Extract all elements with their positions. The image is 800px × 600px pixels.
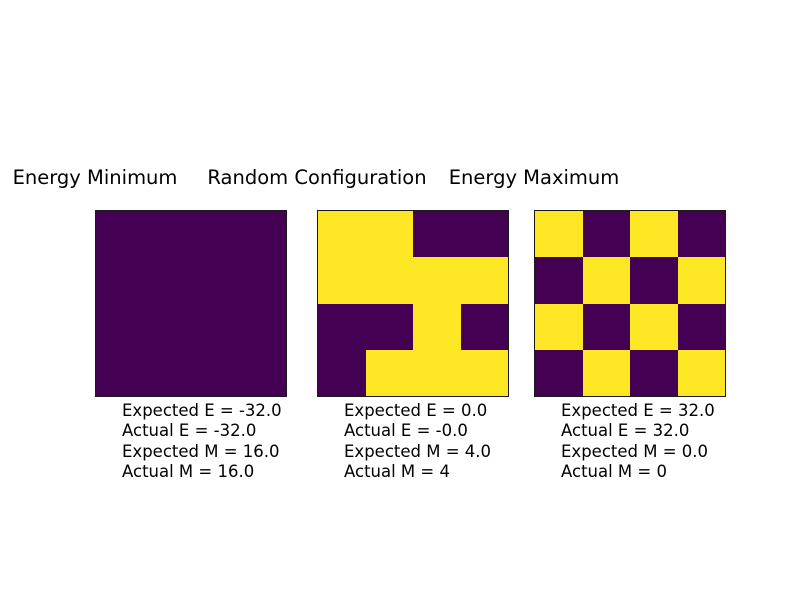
spin-cell: [366, 257, 414, 303]
spin-cell: [535, 257, 583, 303]
caption-line-actual-energy: Actual E = 32.0: [561, 421, 715, 441]
spin-cell: [461, 304, 509, 350]
caption-line-expected-energy: Expected E = 0.0: [344, 401, 491, 421]
spin-cell: [678, 350, 726, 396]
spin-cell: [461, 257, 509, 303]
spin-cell: [461, 350, 509, 396]
panel-title: Random Configuration: [207, 168, 426, 188]
caption-line-expected-magnetization: Expected M = 0.0: [561, 442, 715, 462]
spin-grid: [317, 210, 509, 397]
panel-title: Energy Maximum: [449, 168, 620, 188]
caption-line-expected-energy: Expected E = 32.0: [561, 401, 715, 421]
spin-cell: [144, 257, 192, 303]
caption-line-actual-energy: Actual E = -32.0: [122, 421, 282, 441]
panel-caption: Expected E = -32.0 Actual E = -32.0 Expe…: [122, 401, 282, 482]
spin-cell: [535, 350, 583, 396]
panel-title: Energy Minimum: [13, 168, 178, 188]
spin-cell: [630, 211, 678, 257]
caption-line-actual-energy: Actual E = -0.0: [344, 421, 491, 441]
spin-cell: [583, 304, 631, 350]
spin-cell: [678, 304, 726, 350]
spin-cell: [191, 211, 239, 257]
spin-cell: [583, 350, 631, 396]
spin-cell: [413, 304, 461, 350]
panel-caption: Expected E = 0.0 Actual E = -0.0 Expecte…: [344, 401, 491, 482]
caption-line-expected-energy: Expected E = -32.0: [122, 401, 282, 421]
spin-cell: [678, 211, 726, 257]
spin-cell: [535, 211, 583, 257]
spin-cell: [144, 211, 192, 257]
figure-canvas: Energy Minimum Expected E = -32.0 Actual…: [0, 0, 800, 600]
spin-grid: [534, 210, 726, 397]
spin-cell: [366, 304, 414, 350]
spin-cell: [239, 350, 287, 396]
spin-cell: [239, 211, 287, 257]
spin-cell: [535, 304, 583, 350]
panel-caption: Expected E = 32.0 Actual E = 32.0 Expect…: [561, 401, 715, 482]
spin-cell: [630, 350, 678, 396]
caption-line-expected-magnetization: Expected M = 16.0: [122, 442, 282, 462]
spin-cell: [191, 257, 239, 303]
spin-cell: [630, 304, 678, 350]
spin-cell: [318, 257, 366, 303]
spin-cell: [144, 304, 192, 350]
spin-grid: [95, 210, 287, 397]
spin-cell: [413, 257, 461, 303]
caption-line-expected-magnetization: Expected M = 4.0: [344, 442, 491, 462]
spin-cell: [96, 211, 144, 257]
spin-cell: [96, 257, 144, 303]
spin-cell: [144, 350, 192, 396]
spin-cell: [366, 211, 414, 257]
spin-cell: [239, 257, 287, 303]
spin-cell: [318, 211, 366, 257]
spin-cell: [678, 257, 726, 303]
spin-cell: [191, 304, 239, 350]
spin-cell: [583, 257, 631, 303]
spin-cell: [318, 350, 366, 396]
spin-cell: [191, 350, 239, 396]
spin-cell: [366, 350, 414, 396]
spin-cell: [461, 211, 509, 257]
caption-line-actual-magnetization: Actual M = 4: [344, 462, 491, 482]
spin-cell: [630, 257, 678, 303]
spin-cell: [413, 350, 461, 396]
spin-cell: [96, 304, 144, 350]
spin-cell: [239, 304, 287, 350]
caption-line-actual-magnetization: Actual M = 0: [561, 462, 715, 482]
spin-cell: [583, 211, 631, 257]
caption-line-actual-magnetization: Actual M = 16.0: [122, 462, 282, 482]
spin-cell: [318, 304, 366, 350]
spin-cell: [413, 211, 461, 257]
spin-cell: [96, 350, 144, 396]
